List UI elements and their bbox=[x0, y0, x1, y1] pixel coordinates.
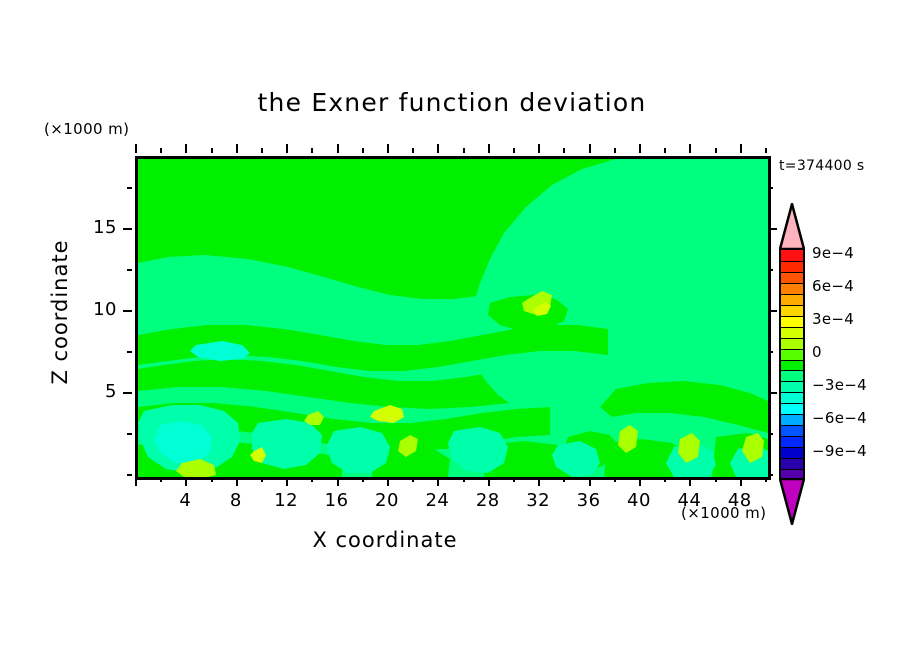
contour-plot-area bbox=[135, 156, 771, 480]
y-tick-minor bbox=[768, 433, 773, 435]
x-axis-title: X coordinate bbox=[0, 528, 770, 552]
x-tick-minor bbox=[765, 148, 767, 153]
colorbar-band bbox=[781, 261, 803, 272]
x-tick-minor bbox=[715, 148, 717, 153]
colorbar-band bbox=[781, 349, 803, 360]
page-title: the Exner function deviation bbox=[0, 88, 904, 117]
colorbar-band bbox=[781, 305, 803, 316]
y-tick-label: 15 bbox=[73, 217, 117, 238]
colorbar-tick-label: 0 bbox=[812, 343, 822, 361]
x-tick-major bbox=[236, 477, 238, 486]
x-tick-minor bbox=[765, 477, 767, 482]
x-tick-minor bbox=[614, 148, 616, 153]
colorbar-band bbox=[781, 447, 803, 458]
x-tick-major bbox=[135, 477, 137, 486]
colorbar-band bbox=[781, 327, 803, 338]
x-tick-minor bbox=[311, 148, 313, 153]
x-tick-major bbox=[689, 477, 691, 486]
colorbar-tick-label: 3e−4 bbox=[812, 310, 854, 328]
x-tick-minor bbox=[664, 477, 666, 482]
x-tick-minor bbox=[211, 477, 213, 482]
x-tick-major bbox=[286, 477, 288, 486]
x-tick-major bbox=[337, 144, 339, 153]
x-tick-major bbox=[437, 144, 439, 153]
y-tick-major bbox=[123, 310, 132, 312]
x-tick-minor bbox=[311, 477, 313, 482]
x-tick-minor bbox=[664, 148, 666, 153]
x-tick-minor bbox=[160, 148, 162, 153]
colorbar-tick-label: 9e−4 bbox=[812, 244, 854, 262]
x-tick-minor bbox=[412, 148, 414, 153]
contour-field bbox=[138, 159, 768, 477]
x-tick-major bbox=[639, 477, 641, 486]
x-tick-major bbox=[488, 477, 490, 486]
y-tick-major bbox=[123, 228, 132, 230]
x-tick-minor bbox=[160, 477, 162, 482]
timestamp-annotation: t=374400 s bbox=[779, 158, 864, 174]
colorbar-band bbox=[781, 294, 803, 305]
x-tick-major bbox=[639, 144, 641, 153]
y-tick-minor bbox=[127, 474, 132, 476]
x-tick-minor bbox=[211, 148, 213, 153]
x-tick-minor bbox=[412, 477, 414, 482]
y-tick-minor bbox=[127, 351, 132, 353]
plot-page: the Exner function deviation (×1000 m) (… bbox=[0, 0, 904, 654]
x-tick-major bbox=[589, 477, 591, 486]
x-tick-minor bbox=[362, 148, 364, 153]
colorbar-tick-label: 6e−4 bbox=[812, 277, 854, 295]
colorbar-bands bbox=[779, 248, 805, 478]
x-tick-major bbox=[387, 477, 389, 486]
colorbar-band bbox=[781, 360, 803, 371]
x-tick-major bbox=[589, 144, 591, 153]
x-tick-major bbox=[689, 144, 691, 153]
x-tick-major bbox=[236, 144, 238, 153]
colorbar-tick-label: −9e−4 bbox=[812, 442, 867, 460]
y-axis-units-label: (×1000 m) bbox=[44, 120, 129, 138]
colorbar-over-arrow bbox=[779, 203, 805, 250]
y-tick-minor bbox=[768, 187, 773, 189]
x-tick-major bbox=[538, 477, 540, 486]
y-tick-label: 5 bbox=[73, 381, 117, 402]
x-tick-major bbox=[488, 144, 490, 153]
colorbar-band bbox=[781, 283, 803, 294]
x-tick-major bbox=[185, 144, 187, 153]
y-tick-major bbox=[123, 392, 132, 394]
x-tick-minor bbox=[513, 477, 515, 482]
colorbar-band bbox=[781, 425, 803, 436]
x-tick-label: 48 bbox=[710, 490, 770, 511]
y-tick-minor bbox=[768, 351, 773, 353]
x-tick-minor bbox=[715, 477, 717, 482]
x-tick-major bbox=[740, 144, 742, 153]
x-tick-major bbox=[135, 144, 137, 153]
x-tick-minor bbox=[614, 477, 616, 482]
colorbar-band bbox=[781, 414, 803, 425]
colorbar-band bbox=[781, 370, 803, 381]
x-tick-minor bbox=[261, 148, 263, 153]
colorbar-band bbox=[781, 381, 803, 392]
x-tick-minor bbox=[261, 477, 263, 482]
colorbar-band bbox=[781, 272, 803, 283]
y-tick-minor bbox=[127, 269, 132, 271]
colorbar-band bbox=[781, 338, 803, 349]
x-tick-major bbox=[387, 144, 389, 153]
y-tick-major bbox=[768, 228, 777, 230]
x-tick-minor bbox=[513, 148, 515, 153]
x-tick-minor bbox=[563, 148, 565, 153]
colorbar-tick-label: −3e−4 bbox=[812, 376, 867, 394]
colorbar: 9e−46e−43e−40−3e−4−6e−4−9e−4 bbox=[779, 203, 805, 523]
y-tick-minor bbox=[768, 474, 773, 476]
x-tick-minor bbox=[463, 477, 465, 482]
y-tick-label: 10 bbox=[73, 299, 117, 320]
colorbar-band bbox=[781, 250, 803, 261]
x-tick-major bbox=[286, 144, 288, 153]
x-tick-major bbox=[337, 477, 339, 486]
colorbar-band bbox=[781, 436, 803, 447]
colorbar-tick-label: −6e−4 bbox=[812, 409, 867, 427]
y-tick-minor bbox=[127, 187, 132, 189]
colorbar-band bbox=[781, 316, 803, 327]
colorbar-band bbox=[781, 392, 803, 403]
contour-svg bbox=[138, 159, 768, 477]
x-tick-major bbox=[740, 477, 742, 486]
y-tick-minor bbox=[768, 269, 773, 271]
y-tick-major bbox=[768, 310, 777, 312]
x-tick-minor bbox=[463, 148, 465, 153]
x-tick-major bbox=[538, 144, 540, 153]
colorbar-under-arrow bbox=[779, 478, 805, 525]
y-axis-title: Z coordinate bbox=[48, 192, 72, 432]
colorbar-band bbox=[781, 458, 803, 469]
y-tick-major bbox=[768, 392, 777, 394]
colorbar-band bbox=[781, 403, 803, 414]
x-tick-minor bbox=[362, 477, 364, 482]
x-tick-major bbox=[185, 477, 187, 486]
x-tick-minor bbox=[563, 477, 565, 482]
x-tick-major bbox=[437, 477, 439, 486]
y-tick-minor bbox=[127, 433, 132, 435]
